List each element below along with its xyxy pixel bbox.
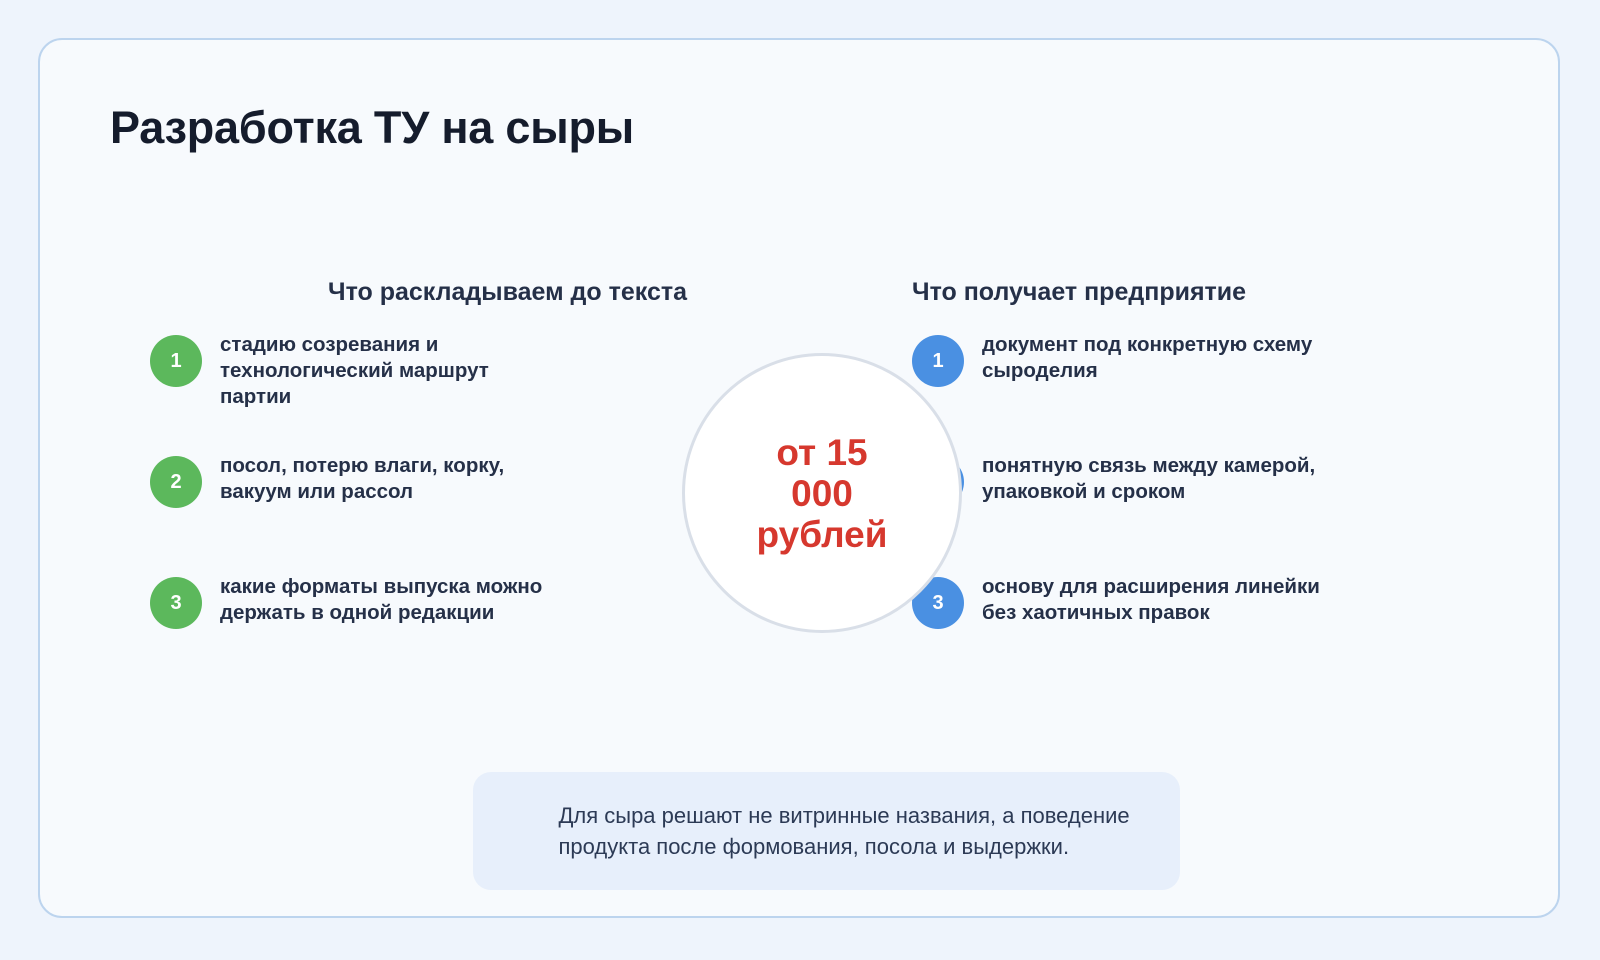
infographic-card: Разработка ТУ на сыры Что раскладываем д… (38, 38, 1560, 918)
list-item: 3 основу для расширения линейки без хаот… (912, 572, 1382, 629)
footer-note-text: Для сыра решают не витринные названия, а… (517, 800, 1137, 862)
price-label: от 15 000 рублей (742, 432, 902, 555)
list-item-label: основу для расширения линейки без хаотич… (982, 572, 1352, 626)
step-badge: 1 (912, 335, 964, 387)
list-item-label: посол, потерю влаги, корку, вакуум или р… (220, 451, 560, 505)
step-badge: 1 (150, 335, 202, 387)
list-item: 2 посол, потерю влаги, корку, вакуум или… (150, 451, 620, 508)
list-item: 3 какие форматы выпуска можно держать в … (150, 572, 620, 629)
left-column-header: Что раскладываем до текста (328, 278, 687, 307)
list-item-label: понятную связь между камерой, упаковкой … (982, 451, 1352, 505)
footer-note: Для сыра решают не витринные названия, а… (473, 772, 1180, 890)
right-column-header: Что получает предприятие (912, 278, 1246, 307)
list-item-label: стадию созревания и технологический марш… (220, 330, 560, 410)
list-item-label: документ под конкретную схему сыроделия (982, 330, 1352, 384)
list-item: 1 стадию созревания и технологический ма… (150, 330, 620, 410)
step-badge: 2 (150, 456, 202, 508)
list-item: 2 понятную связь между камерой, упаковко… (912, 451, 1382, 508)
price-circle: от 15 000 рублей (682, 353, 962, 633)
step-badge: 3 (150, 577, 202, 629)
list-item-label: какие форматы выпуска можно держать в од… (220, 572, 560, 626)
page-title: Разработка ТУ на сыры (110, 102, 634, 154)
list-item: 1 документ под конкретную схему сыродели… (912, 330, 1382, 387)
